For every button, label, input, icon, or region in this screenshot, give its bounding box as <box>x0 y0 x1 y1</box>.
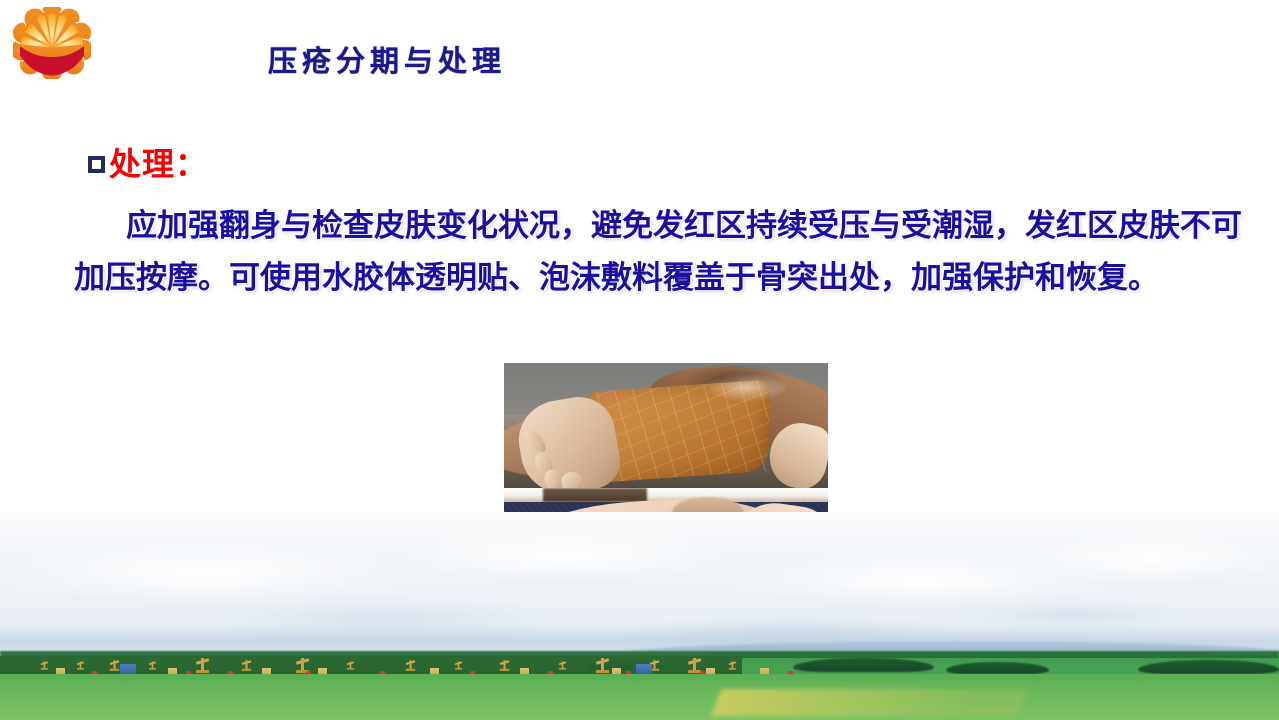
hydrocolloid-dressing-application-photo <box>504 363 828 493</box>
slide-header: 压疮分期与处理 <box>0 0 1279 105</box>
pumpjack <box>149 662 156 670</box>
banner-near-field <box>0 674 1279 720</box>
pumpjack <box>242 660 251 671</box>
pumpjack <box>500 660 509 671</box>
pumpjack <box>559 662 566 670</box>
pumpjack <box>596 658 609 673</box>
pumpjack <box>729 662 736 670</box>
pumpjack <box>41 662 48 670</box>
banner-yellow-crop-field <box>711 689 1029 716</box>
treatment-heading-label: 处理： <box>109 148 208 180</box>
logo-svg <box>13 7 91 79</box>
cnpc-petrochina-logo <box>13 7 91 79</box>
slide: 压疮分期与处理 处理： 应加强翻身与检查皮肤变化状况，避免发红区持续受压与受潮湿… <box>0 0 1279 720</box>
pumpjack <box>347 662 354 670</box>
banner-copse <box>946 662 1048 674</box>
photo-highlight <box>705 373 789 402</box>
pumpjack <box>196 658 209 673</box>
photo-top-strip-dark <box>543 488 647 502</box>
finger-1 <box>521 427 549 457</box>
pumpjack <box>406 660 415 671</box>
banner-copse <box>793 658 934 673</box>
treatment-heading-row: 处理： <box>88 148 208 180</box>
treatment-paragraph: 应加强翻身与检查皮肤变化状况，避免发红区持续受压与受潮湿，发红区皮肤不可加压按摩… <box>74 200 1254 304</box>
pumpjack <box>455 662 462 670</box>
page-title: 压疮分期与处理 <box>268 38 506 80</box>
oilfield-landscape-banner <box>0 512 1279 720</box>
square-bullet-icon <box>88 156 105 173</box>
pumpjack <box>110 660 119 671</box>
banner-copse <box>1138 660 1279 675</box>
pumpjack <box>77 662 84 670</box>
